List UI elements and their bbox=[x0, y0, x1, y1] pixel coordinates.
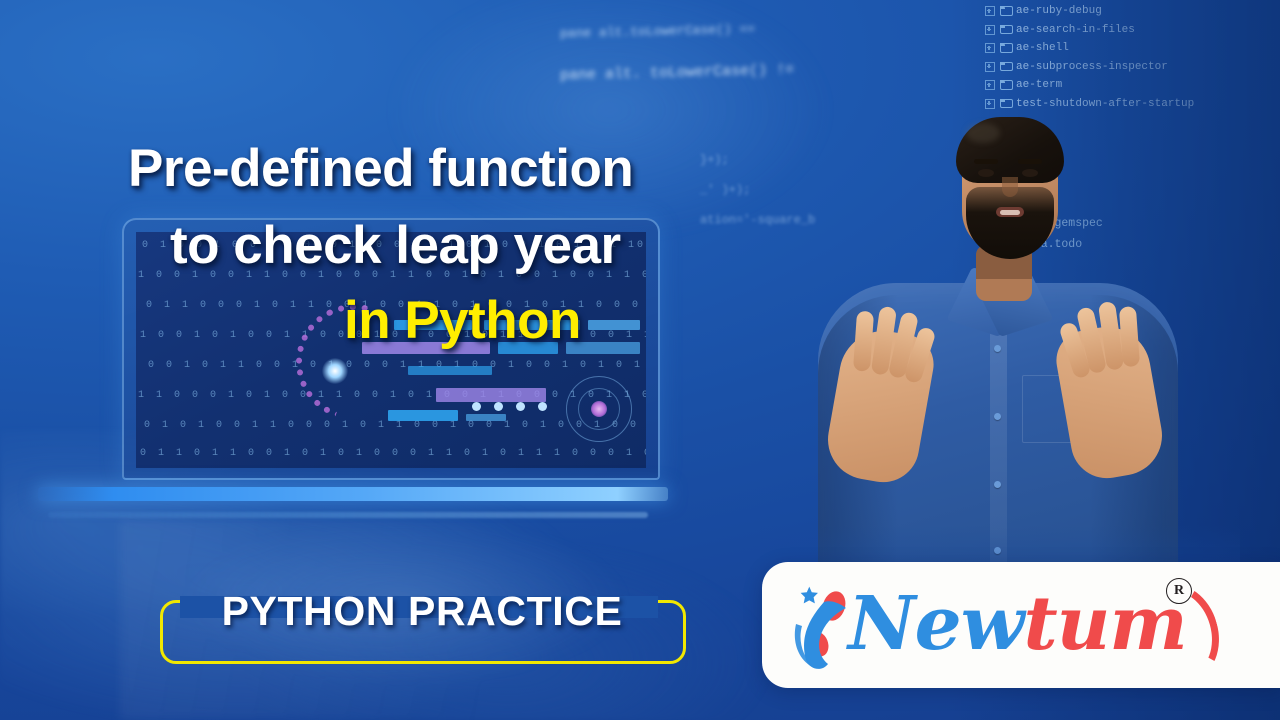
shirt-button bbox=[994, 413, 1001, 420]
expand-square-icon bbox=[985, 43, 995, 53]
eyebrow-left bbox=[974, 159, 998, 164]
glow-dot bbox=[516, 402, 525, 411]
brand-wordmark: Newtum bbox=[848, 576, 1187, 672]
presenter-nose bbox=[1002, 177, 1018, 197]
eyebrow-right bbox=[1018, 159, 1042, 164]
category-badge: PYTHON PRACTICE bbox=[160, 588, 684, 660]
file-tree-label: ae-subprocess-inspector bbox=[1016, 58, 1168, 77]
expand-square-icon bbox=[985, 25, 995, 35]
file-tree-row: ae-term bbox=[985, 76, 1280, 95]
data-bar bbox=[436, 388, 546, 402]
code-line: pane alt. toLowerCase() != bbox=[560, 45, 990, 98]
folder-icon bbox=[1000, 44, 1011, 53]
hair-highlight bbox=[966, 123, 1000, 143]
shirt-button bbox=[994, 345, 1001, 352]
file-tree-label: ae-shell bbox=[1016, 39, 1069, 58]
folder-icon bbox=[1000, 62, 1011, 71]
code-line: pane alt.toLowerCase() == bbox=[560, 3, 990, 56]
file-tree-row: ae-shell bbox=[985, 39, 1280, 58]
laptop-base-glow-secondary bbox=[48, 512, 648, 518]
file-tree-row: ae-search-in-files bbox=[985, 21, 1280, 40]
glow-dot bbox=[538, 402, 547, 411]
laptop-base-glow bbox=[38, 487, 668, 501]
file-tree-row: ae-subprocess-inspector bbox=[985, 58, 1280, 77]
brand-logo-panel: Newtum R bbox=[762, 562, 1280, 688]
glow-dot bbox=[494, 402, 503, 411]
badge-label: PYTHON PRACTICE bbox=[174, 588, 670, 635]
headline-line-1: Pre-defined function bbox=[128, 144, 868, 195]
thumbnail-canvas: pane alt.toLowerCase() == pane alt. toLo… bbox=[0, 0, 1280, 720]
eye-left bbox=[978, 169, 994, 177]
presenter-teeth bbox=[1000, 210, 1020, 215]
folder-icon bbox=[1000, 7, 1011, 16]
target-ring-decoration bbox=[566, 376, 632, 442]
file-tree-row: ae-ruby-debug bbox=[985, 2, 1280, 21]
data-bar bbox=[388, 410, 458, 421]
folder-icon bbox=[1000, 81, 1011, 90]
eye-right bbox=[1022, 169, 1038, 177]
expand-square-icon bbox=[985, 80, 995, 90]
wordmark-part-new: New bbox=[848, 581, 1023, 667]
file-tree-label: ae-search-in-files bbox=[1016, 21, 1135, 40]
expand-square-icon bbox=[985, 62, 995, 72]
expand-square-icon bbox=[985, 6, 995, 16]
registered-trademark-icon: R bbox=[1166, 578, 1192, 604]
glow-dot bbox=[472, 402, 481, 411]
binary-row: 0 1 1 0 1 1 0 0 1 0 1 0 1 0 0 0 1 1 0 1 … bbox=[140, 448, 646, 459]
file-tree-label: ae-term bbox=[1016, 76, 1062, 95]
headline-line-3-highlight: in Python bbox=[344, 296, 868, 347]
folder-icon bbox=[1000, 25, 1011, 34]
glow-dot bbox=[322, 358, 348, 384]
background-code-top: pane alt.toLowerCase() == pane alt. toLo… bbox=[560, 3, 990, 100]
file-tree-label: ae-ruby-debug bbox=[1016, 2, 1102, 21]
page-title: Pre-defined function to check leap year … bbox=[128, 144, 868, 347]
data-bar bbox=[408, 366, 492, 375]
headline-line-2: to check leap year bbox=[170, 221, 868, 272]
shirt-button bbox=[994, 481, 1001, 488]
data-bar bbox=[466, 414, 506, 421]
